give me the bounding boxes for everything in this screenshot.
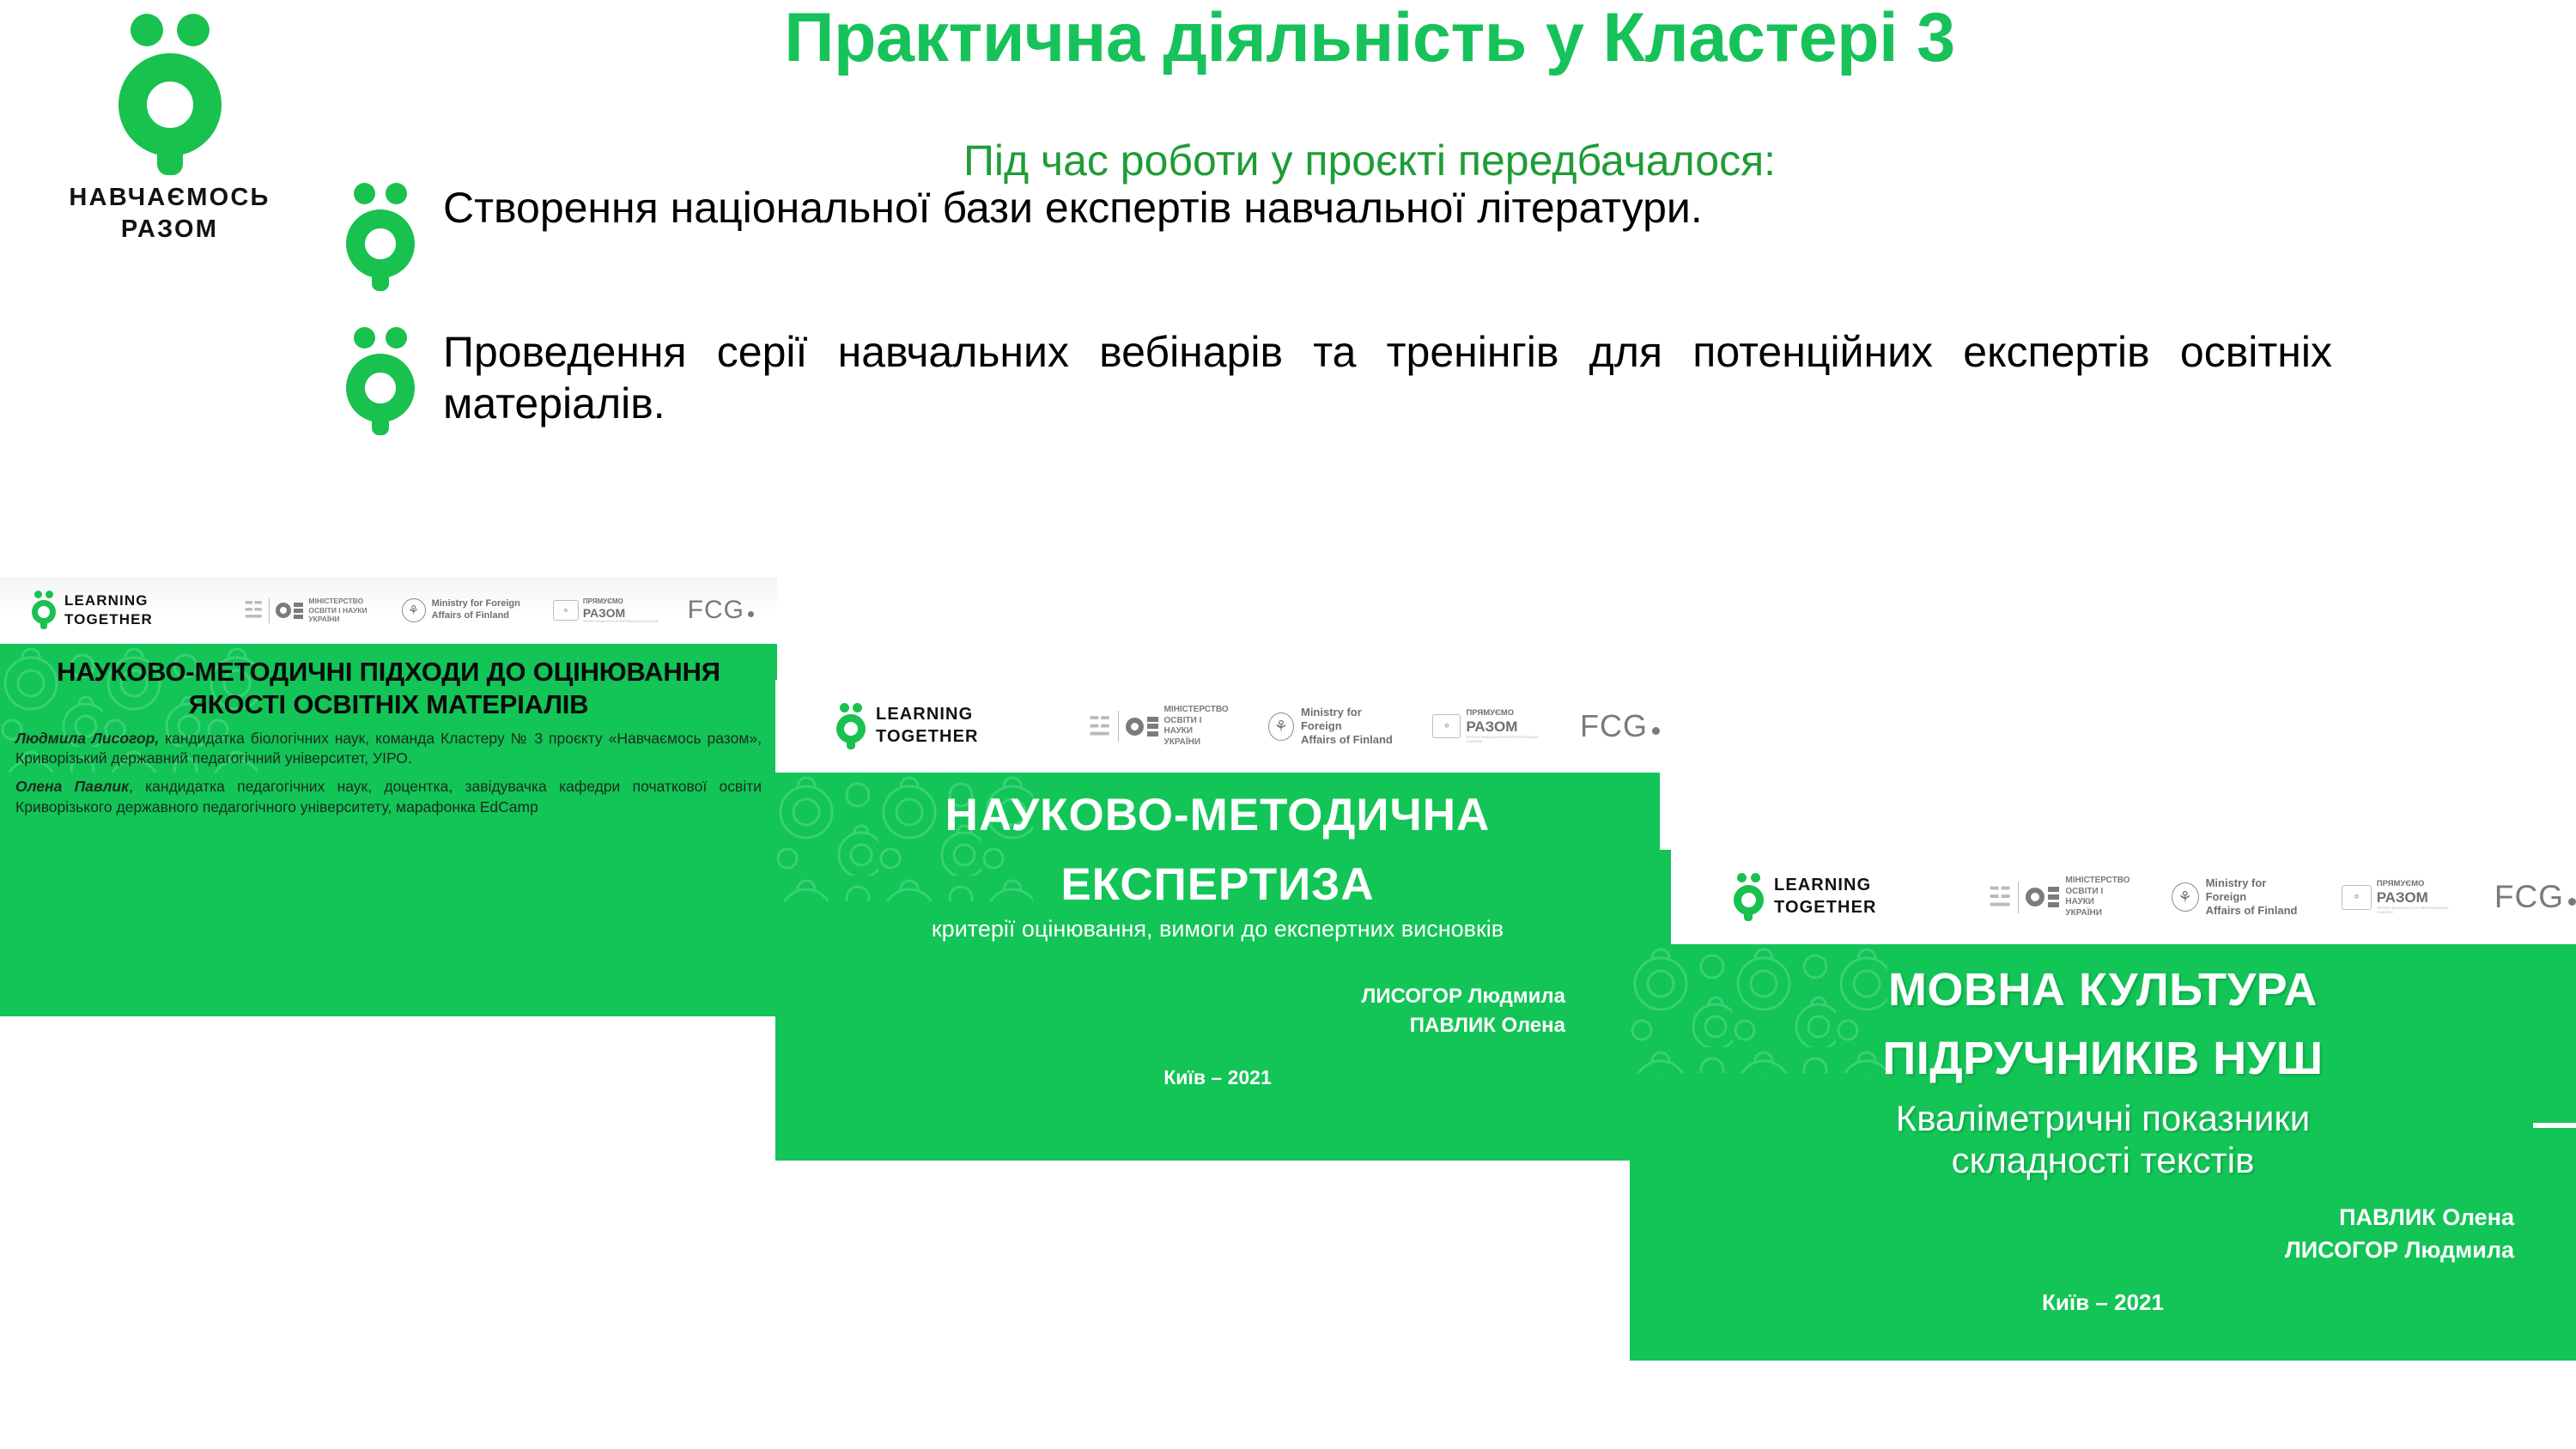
slide-edge-accent (1630, 850, 1671, 944)
slide-title-line1: МОВНА КУЛЬТУРА (1630, 956, 2576, 1025)
finland-wordmark: Ministry for Foreign Affairs of Finland (2206, 876, 2304, 919)
slide-author-2: Олена Павлик, кандидатка педагогічних на… (15, 777, 762, 818)
divider (2018, 882, 2019, 913)
slide-subtitle-line1: Кваліметричні показники (1630, 1097, 2576, 1140)
pryamuemo-razom-logo: ⚬ ПРЯМУЄМО РАЗОМ ПРОЄКТ ФІНАНСУЄТЬСЯ ЄВР… (553, 597, 659, 622)
bullet-text: Створення національної бази експертів на… (417, 182, 2332, 233)
tryzub-icon: ☳ (1989, 882, 2012, 912)
tryzub-icon: ☳ (244, 597, 263, 623)
slide-title-line1: НАУКОВО-МЕТОДИЧНА (775, 781, 1660, 851)
mon-ukraine-logo: ☳ МІНІСТЕРСТВО ОСВІТИ І НАУКИ УКРАЇНИ (1989, 876, 2130, 919)
slide-title-line2: ЕКСПЕРТИЗА (775, 851, 1660, 920)
thumbnail-slide[interactable]: LEARNING TOGETHER ☳ МІНІСТЕРСТВО ОСВІТИ … (0, 577, 777, 1016)
slide-title: МОВНА КУЛЬТУРА ПІДРУЧНИКІВ НУШ (1630, 956, 2576, 1094)
slide-authors: ПАВЛИК Олена ЛИСОГОР Людмила (1630, 1201, 2576, 1267)
mon-wordmark: МІНІСТЕРСТВО ОСВІТИ І НАУКИ УКРАЇНИ (308, 597, 367, 624)
bullet-item: Проведення серії навчальних вебінарів та… (343, 326, 2361, 436)
mon-ukraine-logo: ☳ МІНІСТЕРСТВО ОСВІТИ І НАУКИ УКРАЇНИ (1089, 705, 1229, 748)
learning-together-wordmark: LEARNING TOGETHER (64, 591, 153, 629)
slide-body: НАУКОВО-МЕТОДИЧНА ЕКСПЕРТИЗА критерії оц… (775, 773, 1660, 1161)
slide-authors: ЛИСОГОР Людмила ПАВЛИК Олена (775, 982, 1660, 1040)
mon-emblem-icon (1126, 717, 1158, 737)
learning-together-mark-icon (835, 703, 866, 750)
tryzub-icon: ☳ (1089, 712, 1111, 742)
learning-together-mark-icon (343, 326, 417, 436)
partner-logo-bar: LEARNING TOGETHER ☳ МІНІСТЕРСТВО ОСВІТИ … (775, 680, 1660, 773)
finland-seal-icon: ⚘ (1268, 712, 1294, 741)
eu-stars-icon: ⚬ (1432, 714, 1461, 738)
fcg-logo: FCG (2494, 879, 2576, 915)
learning-together-wordmark: LEARNING TOGETHER (1774, 875, 1877, 919)
partner-logo-bar: LEARNING TOGETHER ☳ МІНІСТЕРСТВО ОСВІТИ … (0, 577, 777, 644)
brand-name: НАВЧАЄМОСЬ РАЗОМ (17, 182, 322, 245)
learning-together-logo: LEARNING TOGETHER (31, 591, 153, 630)
eu-stars-icon: ⚬ (2342, 885, 2372, 910)
thumbnail-slide[interactable]: LEARNING TOGETHER ☳ МІНІСТЕРСТВО ОСВІТИ … (775, 680, 1660, 1161)
finland-wordmark: Ministry for Foreign Affairs of Finland (1301, 706, 1396, 748)
author-2: ПАВЛИК Олена (775, 1011, 1565, 1040)
pryamuemo-razom-logo: ⚬ ПРЯМУЄМО РАЗОМ ПРОЄКТ ФІНАНСУЄТЬСЯ ЄВР… (2342, 880, 2460, 914)
learning-together-mark-icon (31, 591, 57, 630)
mon-emblem-icon (276, 603, 303, 619)
finland-seal-icon: ⚘ (402, 598, 426, 622)
slide-title: НАУКОВО-МЕТОДИЧНА ЕКСПЕРТИЗА (775, 781, 1660, 919)
learning-together-mark-icon (343, 182, 417, 292)
slide-author-1: Людмила Лисогор, кандидатка біологічних … (15, 729, 762, 770)
divider (269, 597, 270, 623)
slide-subtitle-line2: складності текстів (1630, 1139, 2576, 1182)
eu-stars-icon: ⚬ (553, 600, 579, 621)
learning-together-mark-icon (1733, 873, 1765, 922)
learning-together-mark-icon (115, 12, 225, 175)
slide-edge-accent (2533, 1123, 2576, 1128)
bullet-marker (343, 182, 417, 292)
page-subtitle: Під час роботи у проєкті передбачалося: (369, 137, 2370, 185)
author-name: Людмила Лисогор, (15, 730, 159, 747)
mon-wordmark: МІНІСТЕРСТВО ОСВІТИ І НАУКИ УКРАЇНИ (2065, 876, 2129, 919)
slide-city-year: Київ – 2021 (1630, 1289, 2576, 1316)
slide-subtitle: Кваліметричні показники складності текст… (1630, 1097, 2576, 1182)
learning-together-logo: LEARNING TOGETHER (1733, 873, 1877, 922)
slide-city-year: Київ – 2021 (775, 1066, 1660, 1089)
brand-name-line1: НАВЧАЄМОСЬ (17, 182, 322, 214)
bullet-marker (343, 326, 417, 436)
page-title: Практична діяльність у Кластері 3 (369, 2, 2370, 76)
finland-mfa-logo: ⚘ Ministry for Foreign Affairs of Finlan… (1268, 706, 1397, 748)
pryamuemo-razom-logo: ⚬ ПРЯМУЄМО РАЗОМ ПРОЄКТ ФІНАНСУЄТЬСЯ ЄВР… (1432, 709, 1547, 743)
learning-together-logo: LEARNING TOGETHER (835, 703, 979, 750)
mon-emblem-icon (2026, 887, 2059, 907)
brand-logo: НАВЧАЄМОСЬ РАЗОМ (17, 12, 322, 245)
author-1: ПАВЛИК Олена (1630, 1201, 2514, 1234)
mon-ukraine-logo: ☳ МІНІСТЕРСТВО ОСВІТИ І НАУКИ УКРАЇНИ (244, 597, 368, 624)
brand-name-line2: РАЗОМ (17, 214, 322, 246)
author-name: Олена Павлик (15, 778, 129, 795)
learning-together-wordmark: LEARNING TOGETHER (876, 704, 979, 748)
slide-body: МОВНА КУЛЬТУРА ПІДРУЧНИКІВ НУШ Кваліметр… (1630, 944, 2576, 1361)
finland-mfa-logo: ⚘ Ministry for Foreign Affairs of Finlan… (402, 598, 520, 622)
bullet-text: Проведення серії навчальних вебінарів та… (417, 326, 2332, 429)
author-2: ЛИСОГОР Людмила (1630, 1234, 2514, 1266)
bullet-item: Створення національної бази експертів на… (343, 182, 2361, 292)
author-1: ЛИСОГОР Людмила (775, 982, 1565, 1011)
slide-title-line2: ПІДРУЧНИКІВ НУШ (1630, 1025, 2576, 1094)
finland-seal-icon: ⚘ (2172, 882, 2199, 912)
finland-wordmark: Ministry for Foreign Affairs of Finland (432, 598, 520, 622)
finland-mfa-logo: ⚘ Ministry for Foreign Affairs of Finlan… (2172, 876, 2304, 919)
thumbnail-slide[interactable]: LEARNING TOGETHER ☳ МІНІСТЕРСТВО ОСВІТИ … (1630, 850, 2576, 1361)
slide-title: НАУКОВО-МЕТОДИЧНІ ПІДХОДИ ДО ОЦІНЮВАННЯ … (15, 656, 762, 721)
mon-wordmark: МІНІСТЕРСТВО ОСВІТИ І НАУКИ УКРАЇНИ (1164, 705, 1229, 748)
divider (1118, 711, 1119, 742)
fcg-logo: FCG (1580, 708, 1660, 744)
partner-logo-bar: LEARNING TOGETHER ☳ МІНІСТЕРСТВО ОСВІТИ … (1671, 850, 2576, 944)
fcg-logo: FCG (688, 596, 754, 625)
slide-subtitle: критерії оцінювання, вимоги до експертни… (775, 916, 1660, 943)
slide-body: НАУКОВО-МЕТОДИЧНІ ПІДХОДИ ДО ОЦІНЮВАННЯ … (0, 644, 777, 1016)
